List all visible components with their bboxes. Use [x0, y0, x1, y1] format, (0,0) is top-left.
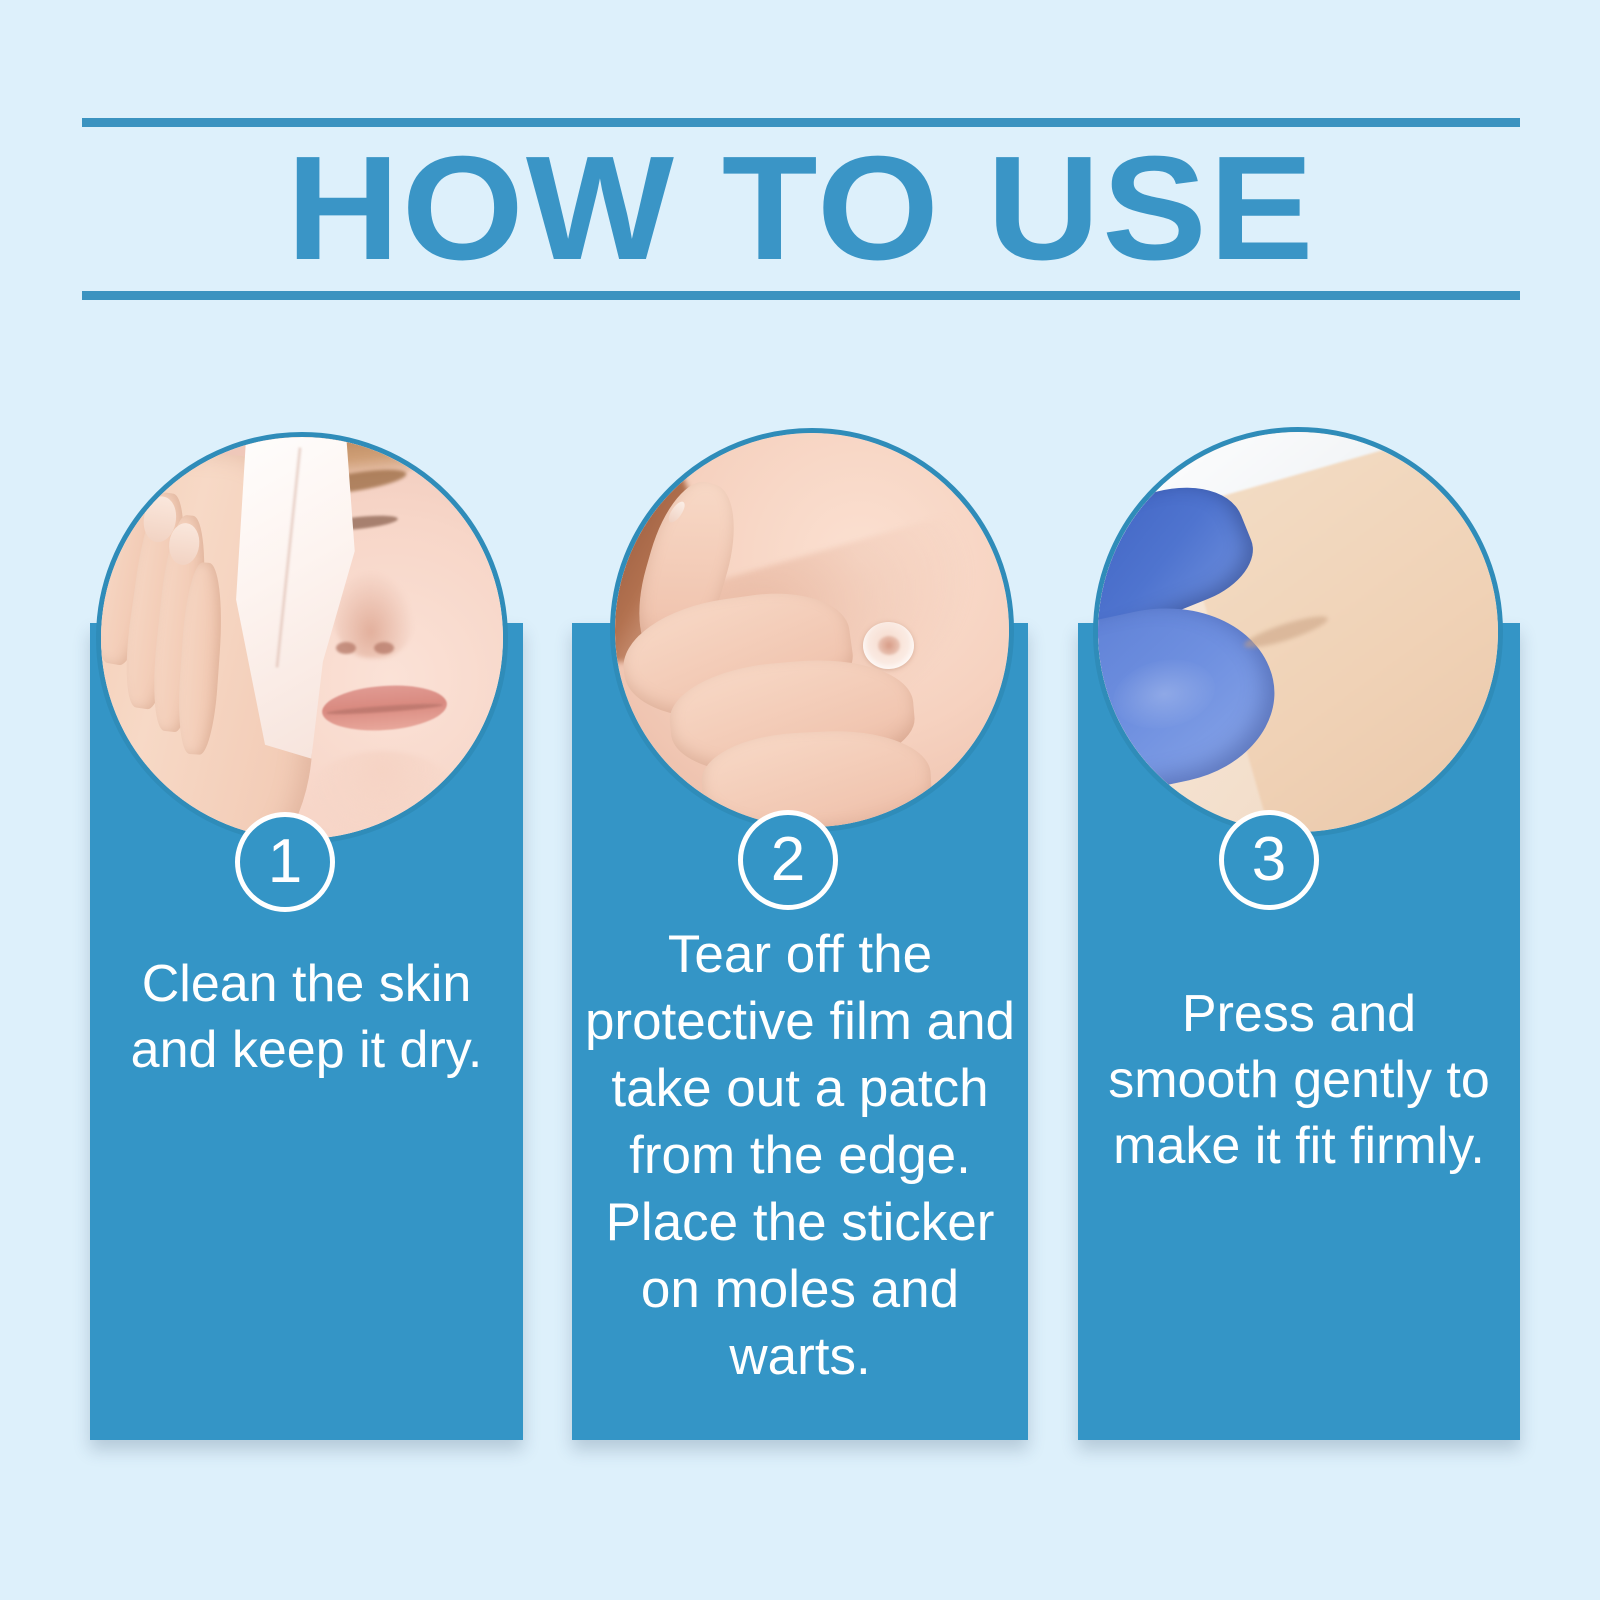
step-1-photo-inner — [101, 437, 503, 839]
gloved-hands-illustration — [1098, 432, 1498, 832]
step-number-badge-1: 1 — [235, 812, 335, 912]
step-caption-2: Tear off the protective film and take ou… — [572, 921, 1028, 1390]
step-card-1: 1 Clean the skin and keep it dry. — [90, 623, 523, 1440]
step-card-3: 3 Press and smooth gently to make it fit… — [1078, 623, 1520, 1440]
mole-patch-illustration — [615, 433, 1009, 827]
step-1-photo — [96, 432, 508, 844]
step-3-photo-inner — [1098, 432, 1498, 832]
step-caption-1: Clean the skin and keep it dry. — [90, 951, 523, 1083]
face-cleansing-illustration — [101, 437, 503, 839]
step-caption-3: Press and smooth gently to make it fit f… — [1078, 981, 1520, 1179]
step-2-photo — [610, 428, 1014, 832]
infographic-page: HOW TO USE — [0, 0, 1600, 1600]
mole-shape — [662, 465, 684, 483]
step-2-photo-inner — [615, 433, 1009, 827]
step-card-2: 2 Tear off the protective film and take … — [572, 623, 1028, 1440]
step-number-badge-3: 3 — [1219, 810, 1319, 910]
chin-shape — [310, 751, 455, 839]
steps-container: 1 Clean the skin and keep it dry. — [0, 0, 1600, 1600]
step-3-photo — [1093, 427, 1503, 837]
step-number-badge-2: 2 — [738, 810, 838, 910]
tissue-fold-shape — [275, 448, 301, 668]
